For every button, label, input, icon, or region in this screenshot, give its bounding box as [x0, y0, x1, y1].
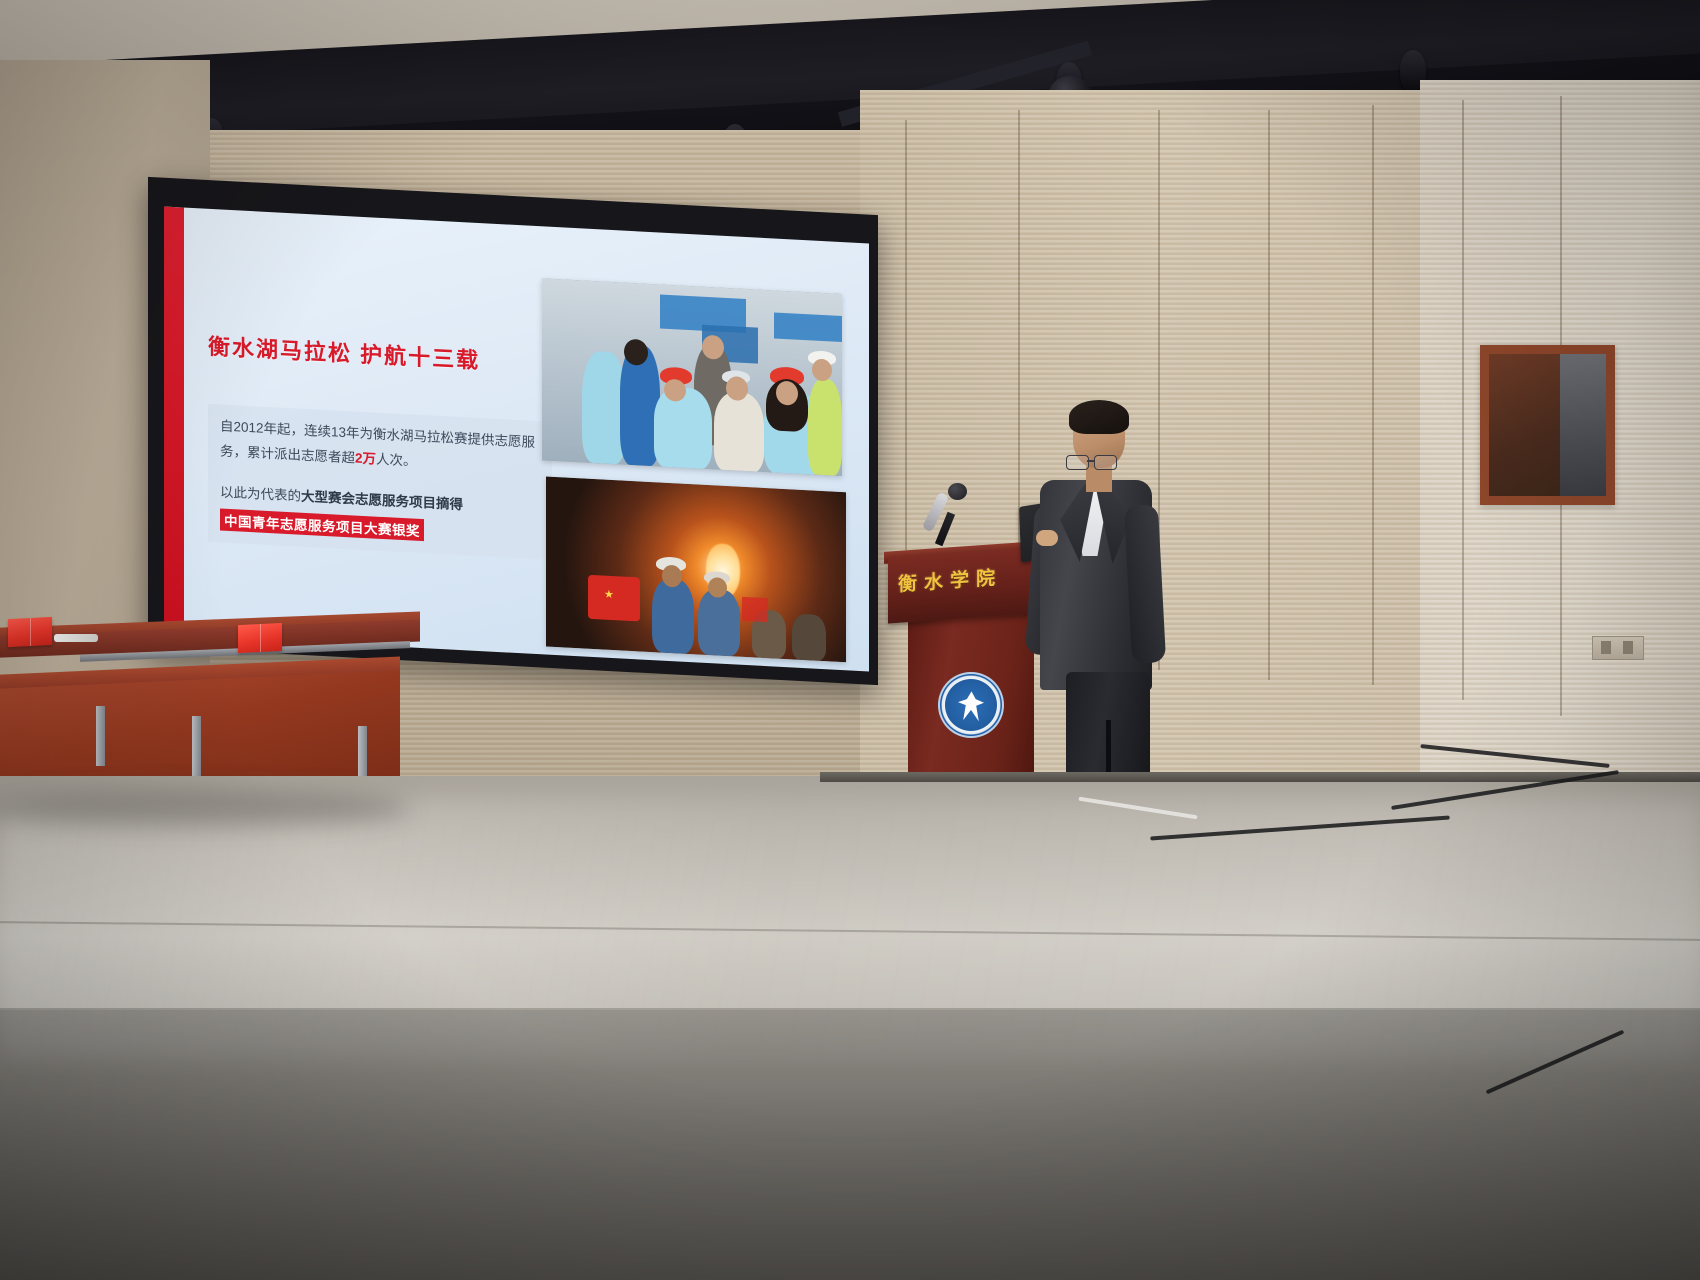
sunset-head-2	[708, 577, 727, 598]
slide-paragraph-1-highlight: 2万	[355, 451, 376, 467]
slide-title: 衡水湖马拉松 护航十三载	[208, 329, 480, 375]
nameplate-left	[8, 617, 52, 647]
glasses-bridge	[1087, 460, 1094, 462]
photo-volunteer-1	[654, 386, 712, 471]
wall-seam-4	[1372, 105, 1374, 685]
table-pen-and-paper[interactable]	[54, 634, 98, 642]
sunset-volunteer-2	[698, 589, 740, 657]
nameplate-fold	[30, 618, 31, 646]
photo-tent-blue-2	[774, 312, 842, 342]
photo-runner-female-head	[726, 376, 748, 401]
glasses-lens-right	[1094, 455, 1117, 470]
wall-power-outlet[interactable]	[1592, 636, 1644, 660]
wall-seam-5	[1462, 100, 1464, 700]
slide-text-block: 自2012年起，连续13年为衡水湖马拉松赛提供志愿服务，累计派出志愿者超2万人次…	[208, 404, 552, 560]
marathon-volunteers-photo	[542, 278, 842, 476]
photo-runner-head	[702, 335, 724, 360]
slide-paragraph-1-after: 人次。	[376, 452, 417, 469]
photo-runner-right-head	[812, 358, 832, 381]
sunset-volunteers-photo: ★	[546, 477, 846, 663]
floor-foreground-shadow	[0, 1010, 1700, 1280]
presentation-hall-scene: 衡水湖马拉松 护航十三载 自2012年起，连续13年为衡水湖马拉松赛提供志愿服务…	[0, 0, 1700, 1280]
window-glass	[1560, 354, 1606, 496]
photo-volunteer-2-head	[776, 381, 798, 406]
table-leg-2	[192, 716, 201, 776]
slide-accent-bar	[164, 207, 184, 636]
nameplate-fold-2	[260, 624, 261, 652]
glasses-lens-left	[1066, 455, 1089, 470]
university-emblem	[938, 672, 1004, 738]
red-flag	[588, 575, 640, 622]
table-shadow	[0, 790, 410, 826]
slide-paragraph-1: 自2012年起，连续13年为衡水湖马拉松赛提供志愿服务，累计派出志愿者超2万人次…	[220, 414, 540, 481]
sunset-volunteer-4	[792, 613, 826, 661]
sunset-head-1	[662, 565, 682, 588]
photo-head-bg	[624, 339, 648, 366]
sunset-volunteer-1	[652, 578, 694, 654]
speaker-hand	[1036, 530, 1058, 546]
flag-star-icon: ★	[604, 590, 614, 602]
table-leg-1	[96, 706, 105, 766]
projected-slide[interactable]: 衡水湖马拉松 护航十三载 自2012年起，连续13年为衡水湖马拉松赛提供志愿服务…	[164, 207, 869, 672]
red-flag-2	[742, 597, 768, 622]
slide-paragraph-2-plain: 以此为代表的	[220, 484, 301, 503]
photo-volunteer-1-head	[664, 379, 686, 402]
speaker-glasses-icon	[1066, 455, 1124, 468]
photo-runner-right	[808, 378, 842, 476]
photo-runner-female	[714, 391, 764, 474]
wall-seam-3	[1268, 110, 1270, 680]
wall-seam-7	[905, 120, 907, 550]
slide-paragraph-2-bold: 大型赛会志愿服务项目摘得	[301, 489, 463, 512]
speaker-hair	[1069, 400, 1129, 434]
nameplate-right	[238, 623, 282, 653]
wall-window-panel	[1480, 345, 1615, 505]
microphone-head-icon	[948, 483, 967, 500]
